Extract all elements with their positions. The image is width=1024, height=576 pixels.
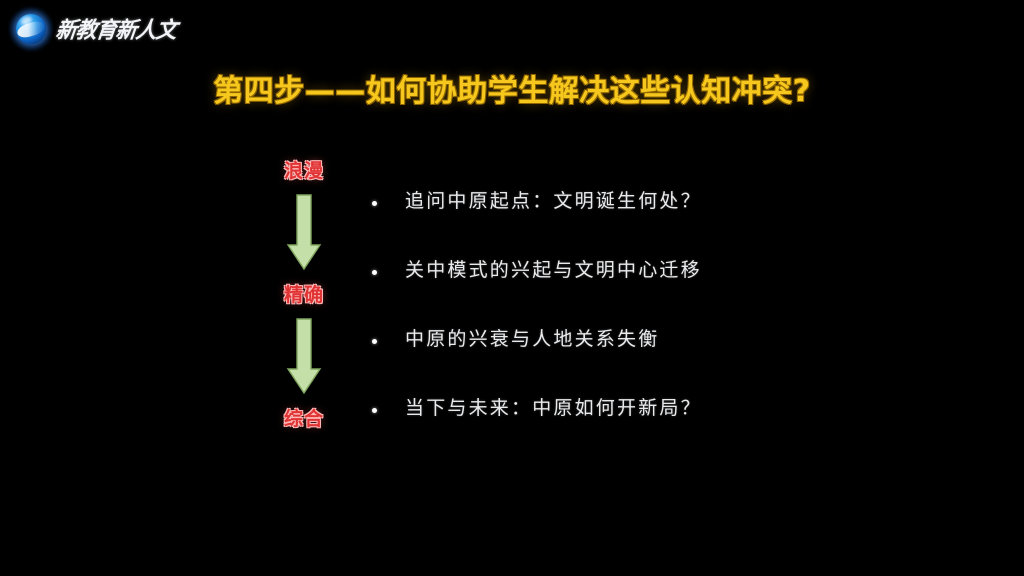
bullet-text: 当下与未来：中原如何开新局？ — [405, 397, 702, 421]
bullet-text: 追问中原起点：文明诞生何处？ — [405, 190, 702, 214]
bullet-text: 中原的兴衰与人地关系失衡 — [405, 328, 659, 352]
blue-globe-logo-icon — [12, 10, 50, 48]
bullet-text: 关中模式的兴起与文明中心迁移 — [405, 259, 702, 283]
slide-title: 第四步——如何协助学生解决这些认知冲突? — [0, 66, 1024, 110]
bullet-marker-icon — [372, 270, 377, 275]
brand-logo: 新教育新人文 — [12, 10, 176, 48]
down-arrow-icon — [286, 317, 322, 395]
down-arrow-icon — [286, 193, 322, 271]
bullet-marker-icon — [372, 339, 377, 344]
list-item: 当下与未来：中原如何开新局？ — [370, 397, 790, 466]
list-item: 中原的兴衰与人地关系失衡 — [370, 328, 790, 397]
presentation-slide: 新教育新人文 第四步——如何协助学生解决这些认知冲突? 浪漫 精确 综合 追问中… — [0, 0, 1024, 576]
flow-stage-label-precision: 精确 — [284, 280, 324, 307]
bullet-marker-icon — [372, 201, 377, 206]
brand-logo-text: 新教育新人文 — [54, 13, 178, 45]
list-item: 关中模式的兴起与文明中心迁移 — [370, 259, 790, 328]
flow-stage-label-synthesis: 综合 — [284, 404, 324, 431]
bullet-marker-icon — [372, 408, 377, 413]
flow-stage-label-romance: 浪漫 — [284, 156, 324, 183]
list-item: 追问中原起点：文明诞生何处？ — [370, 190, 790, 259]
bullet-list: 追问中原起点：文明诞生何处？ 关中模式的兴起与文明中心迁移 中原的兴衰与人地关系… — [370, 190, 790, 466]
learning-stage-flow: 浪漫 精确 综合 — [258, 156, 350, 431]
